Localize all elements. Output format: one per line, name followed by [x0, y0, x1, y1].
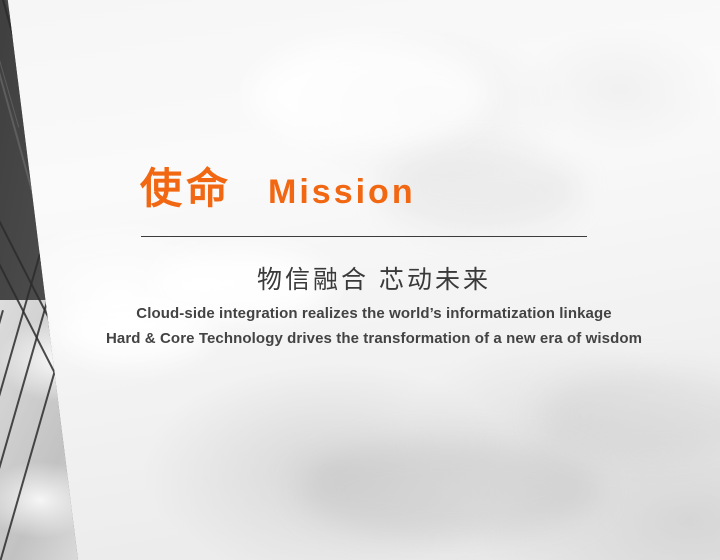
subtitle-cn: 物信融合 芯动未来 — [0, 260, 720, 296]
tagline-line-1: Cloud-side integration realizes the worl… — [0, 305, 720, 322]
page-title: 使命 Mission — [140, 168, 416, 210]
title-divider — [141, 236, 587, 237]
tagline-line-2: Hard & Core Technology drives the transf… — [0, 330, 720, 347]
mission-slide: 使命 Mission 物信融合 芯动未来 Cloud-side integrat… — [0, 0, 720, 560]
text-content: 使命 Mission 物信融合 芯动未来 Cloud-side integrat… — [0, 0, 720, 560]
page-title-en: Mission — [268, 175, 416, 209]
page-title-cn: 使命 — [140, 168, 232, 210]
